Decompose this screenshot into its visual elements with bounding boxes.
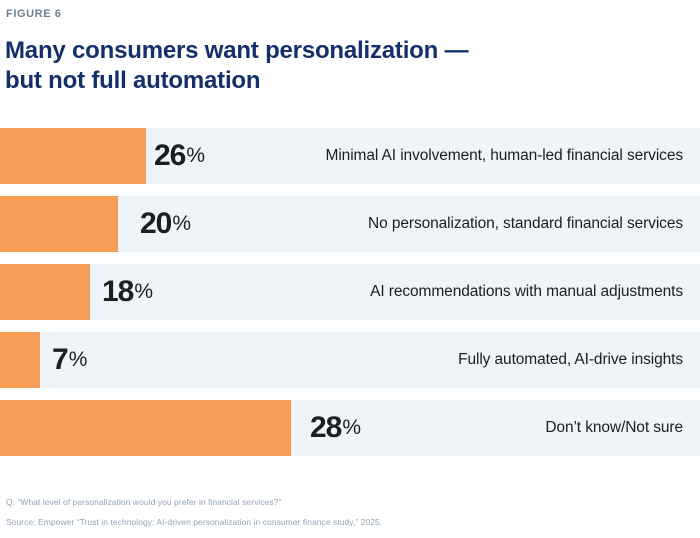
percent-sign: % xyxy=(172,209,191,239)
bar-fill xyxy=(0,128,146,184)
chart-row: 7% Fully automated, AI-drive insights xyxy=(0,332,700,388)
bar-fill xyxy=(0,332,40,388)
bar-fill xyxy=(0,264,90,320)
bar-category-label: AI recommendations with manual adjustmen… xyxy=(370,264,683,320)
bar-value-number: 7 xyxy=(52,345,68,375)
page-title-line-2: but not full automation xyxy=(5,66,625,96)
chart-row: 20% No personalization, standard financi… xyxy=(0,196,700,252)
chart-row: 18% AI recommendations with manual adjus… xyxy=(0,264,700,320)
bar-category-label: Minimal AI involvement, human-led financ… xyxy=(326,128,683,184)
percent-sign: % xyxy=(69,345,88,375)
percent-sign: % xyxy=(134,277,153,307)
chart-row: 26% Minimal AI involvement, human-led fi… xyxy=(0,128,700,184)
bar-value-number: 26 xyxy=(154,141,185,171)
bar-value-number: 20 xyxy=(140,209,171,239)
bar-value: 26% xyxy=(154,128,205,184)
percent-sign: % xyxy=(342,413,361,443)
bar-value: 20% xyxy=(140,196,191,252)
bar-fill xyxy=(0,400,291,456)
page-title: Many consumers want personalization — bu… xyxy=(5,36,625,96)
bar-value-number: 18 xyxy=(102,277,133,307)
bar-category-label: No personalization, standard financial s… xyxy=(368,196,683,252)
survey-question-note: Q. “What level of personalization would … xyxy=(6,492,696,512)
source-note: Source: Empower “Trust in technology: AI… xyxy=(6,512,696,532)
page-title-line-1: Many consumers want personalization — xyxy=(5,36,625,66)
bar-value: 7% xyxy=(52,332,87,388)
bar-value: 18% xyxy=(102,264,153,320)
footer: Q. “What level of personalization would … xyxy=(6,492,696,532)
bar-value: 28% xyxy=(310,400,361,456)
percent-sign: % xyxy=(186,141,205,171)
bar-chart: 26% Minimal AI involvement, human-led fi… xyxy=(0,128,700,456)
bar-fill xyxy=(0,196,118,252)
bar-category-label: Don’t know/Not sure xyxy=(545,400,683,456)
bar-value-number: 28 xyxy=(310,413,341,443)
chart-row: 28% Don’t know/Not sure xyxy=(0,400,700,456)
bar-category-label: Fully automated, AI-drive insights xyxy=(458,332,683,388)
figure-number-label: FIGURE 6 xyxy=(6,7,62,21)
figure-container: FIGURE 6 Many consumers want personaliza… xyxy=(0,0,700,538)
